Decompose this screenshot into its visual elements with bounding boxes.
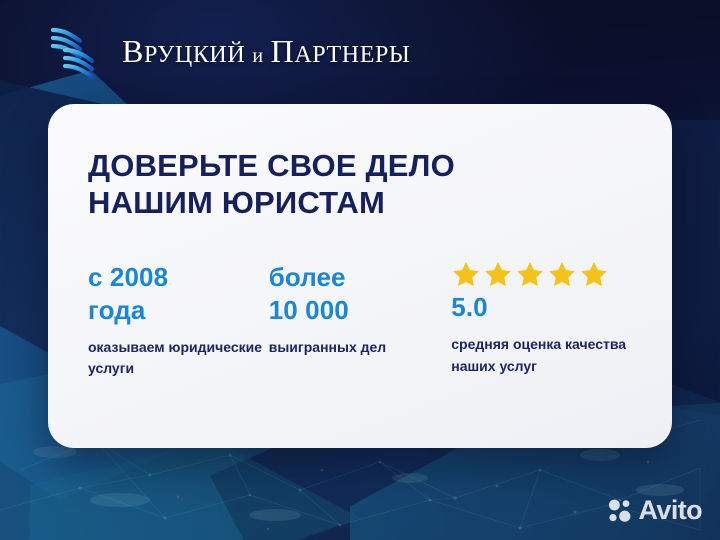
headline-line-1: ДОВЕРЬТЕ СВОЕ ДЕЛО	[88, 148, 632, 185]
avito-dots-icon	[607, 498, 633, 524]
stat-description-years: оказываем юридические услуги	[88, 337, 269, 380]
stat-value-years-line1: с 2008	[88, 261, 269, 294]
avito-label: Avito	[639, 495, 703, 526]
stat-value-cases-line2: 10 000	[269, 294, 452, 327]
brand-word1-cap: В	[122, 33, 144, 69]
brand-word2-rest: АРТНЕРЫ	[294, 42, 410, 68]
stat-value-rating: 5.0	[451, 291, 632, 324]
rating-stars	[451, 261, 632, 287]
brand-word2-cap: П	[271, 33, 295, 69]
star-icon	[547, 260, 577, 288]
poster-canvas: ВРУЦКИЙиПАРТНЕРЫ ДОВЕРЬТЕ СВОЕ ДЕЛО НАШИ…	[0, 0, 720, 540]
stat-value-years-line2: года	[88, 294, 269, 327]
stat-description-cases: выигранных дел	[269, 337, 452, 359]
page-title: ДОВЕРЬТЕ СВОЕ ДЕЛО НАШИМ ЮРИСТАМ	[88, 148, 632, 221]
star-icon	[579, 260, 609, 288]
stat-description-rating: средняя оценка качества наших услуг	[451, 334, 632, 377]
stacked-waves-logo-icon	[48, 22, 104, 80]
brand-word1-rest: РУЦКИЙ	[144, 42, 245, 68]
star-icon	[483, 260, 513, 288]
headline-line-2: НАШИМ ЮРИСТАМ	[88, 185, 632, 222]
info-card: ДОВЕРЬТЕ СВОЕ ДЕЛО НАШИМ ЮРИСТАМ с 2008 …	[48, 104, 672, 448]
stat-value-years: с 2008 года	[88, 261, 269, 327]
stat-value-cases: более 10 000	[269, 261, 452, 327]
brand-conjunction: и	[245, 45, 270, 67]
stat-block-cases: более 10 000 выигранных дел	[269, 261, 452, 380]
stat-block-years: с 2008 года оказываем юридические услуги	[88, 261, 269, 380]
stat-block-rating: 5.0 средняя оценка качества наших услуг	[451, 261, 632, 380]
stat-value-cases-line1: более	[269, 261, 452, 294]
star-icon	[515, 260, 545, 288]
brand-name: ВРУЦКИЙиПАРТНЕРЫ	[122, 33, 410, 70]
stats-row: с 2008 года оказываем юридические услуги…	[88, 261, 632, 380]
star-icon	[451, 260, 481, 288]
avito-watermark: Avito	[607, 495, 703, 526]
brand-header: ВРУЦКИЙиПАРТНЕРЫ	[48, 22, 410, 80]
